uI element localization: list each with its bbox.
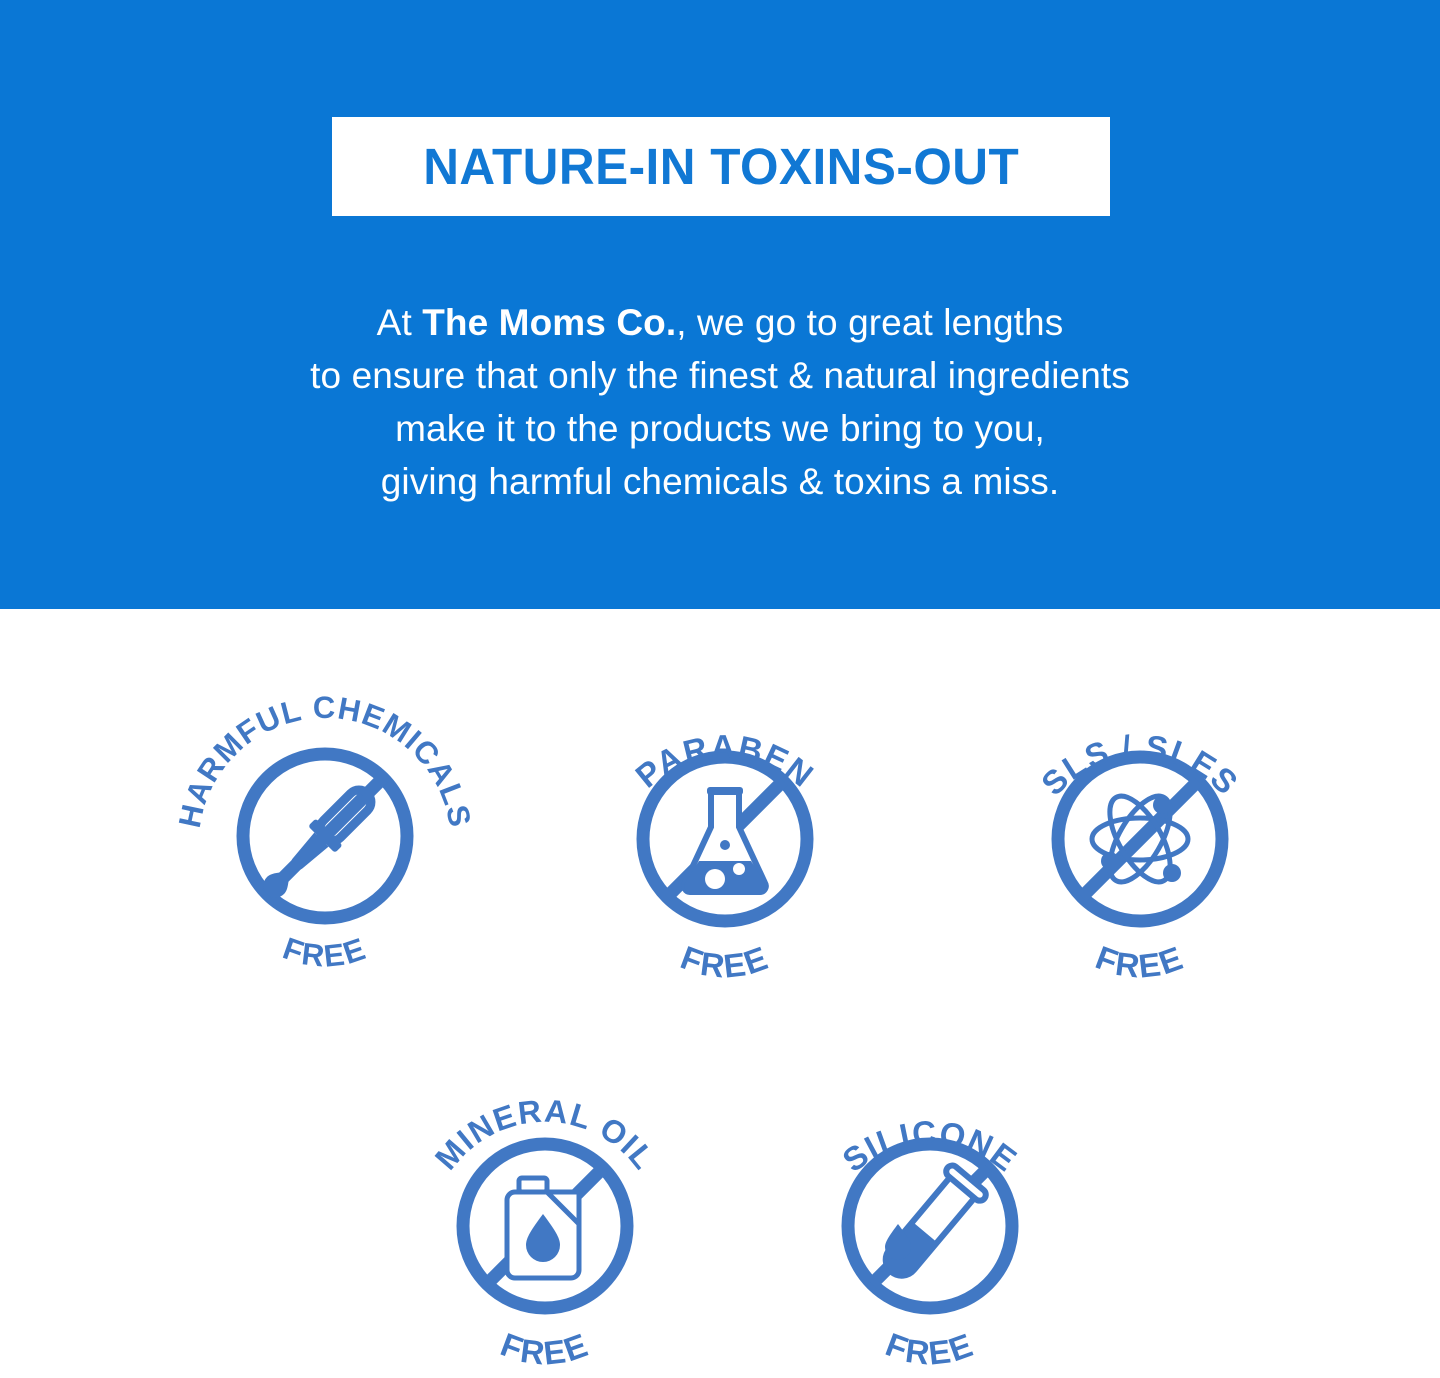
brand-name: The Moms Co. (422, 302, 676, 343)
badge-arc-label: PARABEN (628, 728, 821, 795)
badge-bottom-label: FREE (279, 931, 372, 974)
prohibition-slash (1082, 781, 1198, 897)
badge-mineral-oil: MINERAL OIL FREE (395, 1074, 695, 1374)
badge-arc-label: MINERAL OIL (428, 1092, 663, 1176)
badge-harmful-chemicals: HARMFUL CHEMICALS FREE (175, 678, 475, 978)
badge-arc-label: SLS / SLES (1034, 728, 1246, 803)
badge-grid: HARMFUL CHEMICALS FREE (0, 609, 1440, 1378)
hero-paragraph-line-3: make it to the products we bring to you, (0, 402, 1440, 455)
test-tube-icon (873, 1163, 988, 1287)
badge-bottom-label: FREE (676, 939, 774, 985)
badge-arc-label: SILICONE (836, 1114, 1025, 1179)
hero-paragraph-line-4: giving harmful chemicals & toxins a miss… (0, 455, 1440, 508)
badge-sls-sles: SLS / SLES FREE (990, 687, 1290, 987)
title-banner: NATURE-IN TOXINS-OUT (332, 117, 1110, 216)
hero-section: NATURE-IN TOXINS-OUT At The Moms Co., we… (0, 0, 1440, 609)
page-root: NATURE-IN TOXINS-OUT At The Moms Co., we… (0, 0, 1440, 1378)
hero-paragraph-line-1: At The Moms Co., we go to great lengths (0, 296, 1440, 349)
badge-bottom-label: FREE (1091, 939, 1189, 985)
line1-post: , we go to great lengths (676, 302, 1063, 343)
page-title: NATURE-IN TOXINS-OUT (423, 141, 1019, 192)
hero-paragraph: At The Moms Co., we go to great lengths … (0, 296, 1440, 508)
badge-bottom-label: FREE (881, 1326, 979, 1372)
badge-silicone: SILICONE FREE (780, 1074, 1080, 1374)
hero-paragraph-line-2: to ensure that only the finest & natural… (0, 349, 1440, 402)
line1-pre: At (377, 302, 423, 343)
badge-paraben: PARABEN FREE (575, 687, 875, 987)
badge-bottom-label: FREE (496, 1326, 594, 1372)
